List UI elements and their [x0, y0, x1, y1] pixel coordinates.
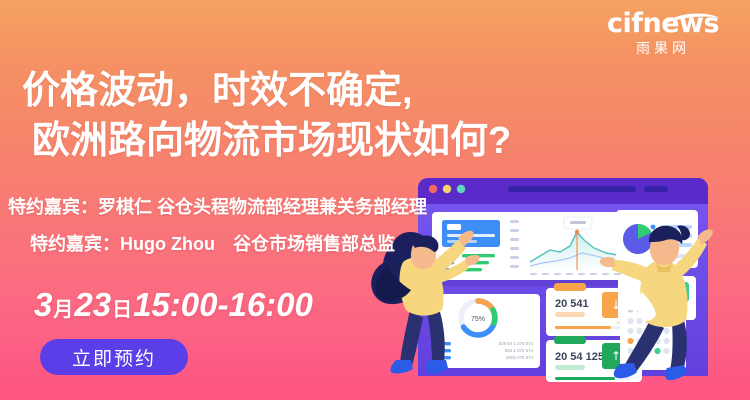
schedule-day: 23 — [74, 286, 111, 323]
page-title: 价格波动，时效不确定, 欧洲路向物流市场现状如何? — [22, 66, 582, 166]
list-value: 520 54 1 075 574 — [499, 341, 534, 346]
red-dot — [429, 185, 437, 193]
guest-line-1: 特约嘉宾：罗棋仁 谷仓头程物流部经理兼关务部经理 — [8, 198, 427, 216]
list-value: 554 1 075 574 — [505, 348, 534, 353]
address-bar — [508, 186, 636, 192]
guest-list: 特约嘉宾：罗棋仁 谷仓头程物流部经理兼关务部经理 特约嘉宾：Hugo Zhou … — [8, 198, 427, 253]
gauge-card: 75% 520 54 1 075 574 554 1 075 574 5005 … — [432, 294, 540, 368]
metric-secondary: 20 54 125 — [555, 351, 604, 363]
webinar-banner: 75% 520 54 1 075 574 554 1 075 574 5005 … — [0, 0, 750, 400]
address-bar-extra — [644, 186, 668, 192]
title-line-2: 欧洲路向物流市场现状如何? — [22, 116, 582, 166]
dashboard-illustration: 75% 520 54 1 075 574 554 1 075 574 5005 … — [370, 170, 750, 400]
badge-up-icon: ↑ — [611, 349, 621, 363]
schedule-day-unit: 日 — [111, 299, 133, 321]
title-line-1: 价格波动，时效不确定, — [22, 66, 582, 116]
schedule-month-unit: 月 — [52, 299, 74, 321]
logo-chinese-name: 雨果网 — [598, 41, 728, 55]
teal-dot — [457, 185, 465, 193]
gauge-value: 75% — [471, 316, 485, 323]
yellow-dot — [443, 185, 451, 193]
schedule-datetime: 3月23日15:00-16:00 — [34, 288, 313, 321]
metric-primary: 20 541 — [555, 298, 589, 310]
list-value: 5005 075 574 — [506, 355, 533, 360]
brand-logo[interactable]: cifnews 雨果网 — [598, 10, 728, 55]
guest-line-2: 特约嘉宾：Hugo Zhou 谷仓市场销售部总监 — [8, 235, 427, 253]
swoosh-arc-icon — [660, 12, 722, 26]
register-now-button[interactable]: 立即预约 — [40, 339, 188, 375]
schedule-time-range: 15:00-16:00 — [133, 286, 313, 323]
schedule-month: 3 — [34, 286, 52, 323]
